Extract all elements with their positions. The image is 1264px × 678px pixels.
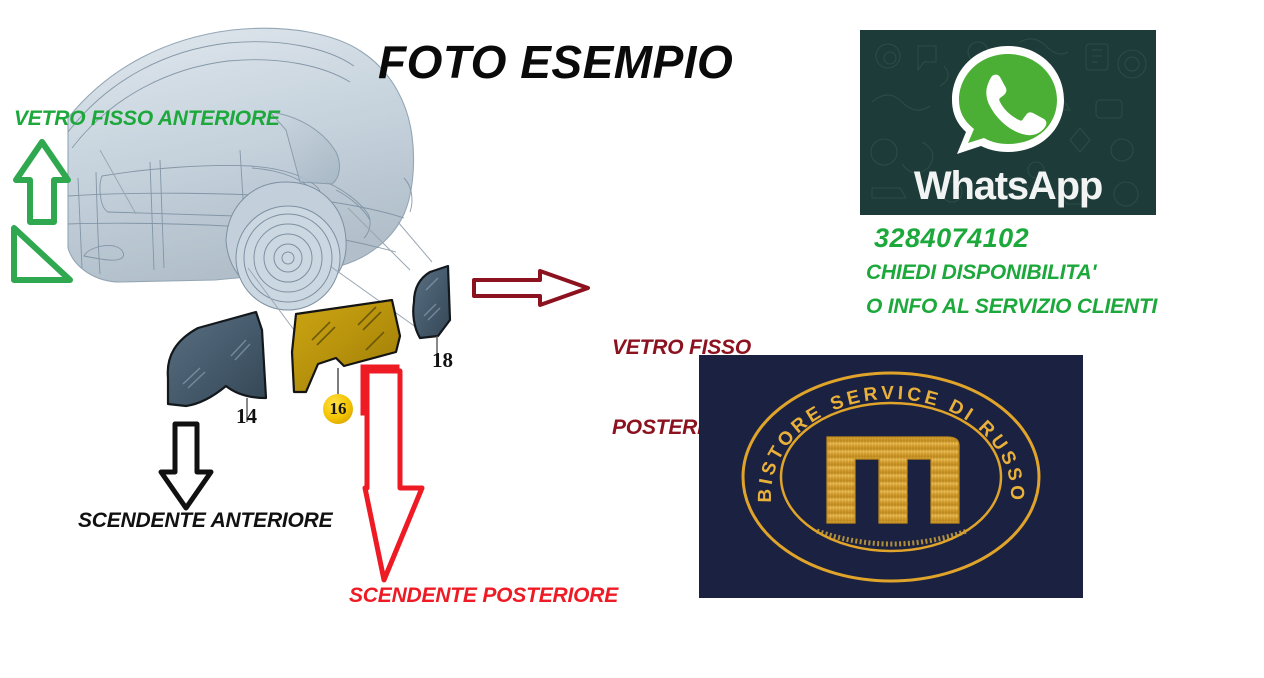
- shop-logo-monogram: [827, 437, 959, 523]
- whatsapp-phone-bubble-icon: [947, 42, 1069, 162]
- green-up-arrow-and-triangle-marker: [6, 136, 78, 286]
- part-number-badge-16: 16: [323, 394, 353, 424]
- part-18-glass: [413, 266, 450, 356]
- contact-availability-line: CHIEDI DISPONIBILITA': [866, 262, 1096, 285]
- label-vetro-fisso-anteriore: VETRO FISSO ANTERIORE: [14, 108, 280, 131]
- whatsapp-wordmark: WhatsApp: [860, 164, 1156, 209]
- phone-number[interactable]: 3284074102: [874, 224, 1029, 253]
- red-down-arrow-marker: [360, 368, 428, 584]
- label-scendente-posteriore: SCENDENTE POSTERIORE: [349, 585, 618, 608]
- whatsapp-logo: [947, 42, 1069, 162]
- shop-logo: MRICAMBISTORE SERVICE DI RUSSO MARCO: [699, 355, 1083, 598]
- car-wheel: [226, 182, 346, 310]
- part-number-14: 14: [236, 404, 257, 429]
- label-scendente-anteriore: SCENDENTE ANTERIORE: [78, 510, 332, 533]
- page-title: FOTO ESEMPIO: [378, 38, 733, 88]
- part-number-18: 18: [432, 348, 453, 373]
- exploded-parts-diagram: [0, 0, 700, 640]
- whatsapp-banner: WhatsApp: [860, 30, 1156, 215]
- black-down-arrow-marker: [155, 420, 217, 512]
- shop-logo-emblem: MRICAMBISTORE SERVICE DI RUSSO MARCO: [699, 355, 1083, 598]
- darkred-right-arrow-marker: [470, 268, 592, 308]
- contact-service-line: O INFO AL SERVIZIO CLIENTI: [866, 296, 1157, 319]
- screenshot-canvas: 14 16 17 18 FOTO ESEMPIO VETRO FISSO ANT…: [0, 0, 1264, 678]
